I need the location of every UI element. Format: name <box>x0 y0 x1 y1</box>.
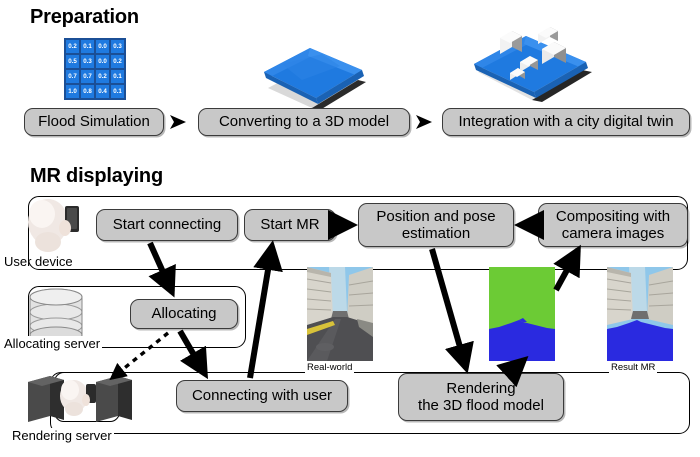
flood-grid-cell: 0.4 <box>95 84 110 99</box>
lane-label-rendering-server: Rendering server <box>10 428 114 443</box>
flood-grid-cell: 0.5 <box>65 54 80 69</box>
mr-box-compositing-line2: camera images <box>562 225 665 242</box>
mr-box-allocating[interactable]: Allocating <box>130 299 238 329</box>
mr-box-connecting-with-user[interactable]: Connecting with user <box>176 380 348 412</box>
mr-box-position-pose-estimation[interactable]: Position and pose estimation <box>358 203 514 247</box>
mr-box-compositing-camera-images[interactable]: Compositing with camera images <box>538 203 688 247</box>
flood-grid-cell: 0.7 <box>80 69 95 84</box>
flood-grid-cell: 0.7 <box>65 69 80 84</box>
mr-box-rendering-line2: the 3D flood model <box>418 397 544 414</box>
mr-box-compositing-line1: Compositing with <box>556 208 670 225</box>
flood-grid-cell: 0.2 <box>110 54 125 69</box>
mr-box-start-mr[interactable]: Start MR <box>244 209 336 241</box>
flood-grid-cell: 0.1 <box>80 39 95 54</box>
flood-grid-cell: 0.2 <box>95 69 110 84</box>
flood-grid-cell: 0.1 <box>110 69 125 84</box>
lane-label-allocating-server: Allocating server <box>2 336 102 351</box>
mr-box-position-pose-line1: Position and pose <box>376 208 495 225</box>
mr-box-position-pose-line2: estimation <box>402 225 470 242</box>
photo-caption-result-mr: Result MR <box>609 362 657 373</box>
real-world-photo <box>307 267 373 361</box>
flood-grid-cell: 0.2 <box>65 39 80 54</box>
prep-step-integration-digital-twin[interactable]: Integration with a city digital twin <box>442 108 690 136</box>
flood-grid-cell: 1.0 <box>65 84 80 99</box>
section-title-preparation: Preparation <box>30 6 139 29</box>
mr-box-start-connecting[interactable]: Start connecting <box>96 209 238 241</box>
flood-grid-cell: 0.0 <box>95 39 110 54</box>
flood-grid-cell: 0.0 <box>95 54 110 69</box>
rendering-server-device-box <box>54 372 120 422</box>
flood-grid-cell: 0.3 <box>110 39 125 54</box>
prep-step-converting-3d-model[interactable]: Converting to a 3D model <box>198 108 410 136</box>
prep-step-flood-simulation[interactable]: Flood Simulation <box>24 108 164 136</box>
section-title-mr-displaying: MR displaying <box>30 165 163 188</box>
diagram-canvas: Preparation 0.20.10.00.30.50.30.00.20.70… <box>0 0 700 457</box>
photo-caption-real-world: Real-world <box>305 362 354 373</box>
mr-box-rendering-line1: Rendering <box>446 380 515 397</box>
flood-grid-cell: 0.1 <box>110 84 125 99</box>
flood-grid-cell: 0.3 <box>80 54 95 69</box>
lane-label-user-device: User device <box>4 254 73 269</box>
mr-box-rendering-3d-flood-model[interactable]: Rendering the 3D flood model <box>398 373 564 421</box>
flood-grid-cell: 0.8 <box>80 84 95 99</box>
green-screen-flood-render <box>489 267 555 361</box>
lane-rendering-server <box>50 372 690 434</box>
result-mr-composite <box>607 267 673 361</box>
flood-grid-heatmap: 0.20.10.00.30.50.30.00.20.70.70.20.11.00… <box>64 38 126 100</box>
